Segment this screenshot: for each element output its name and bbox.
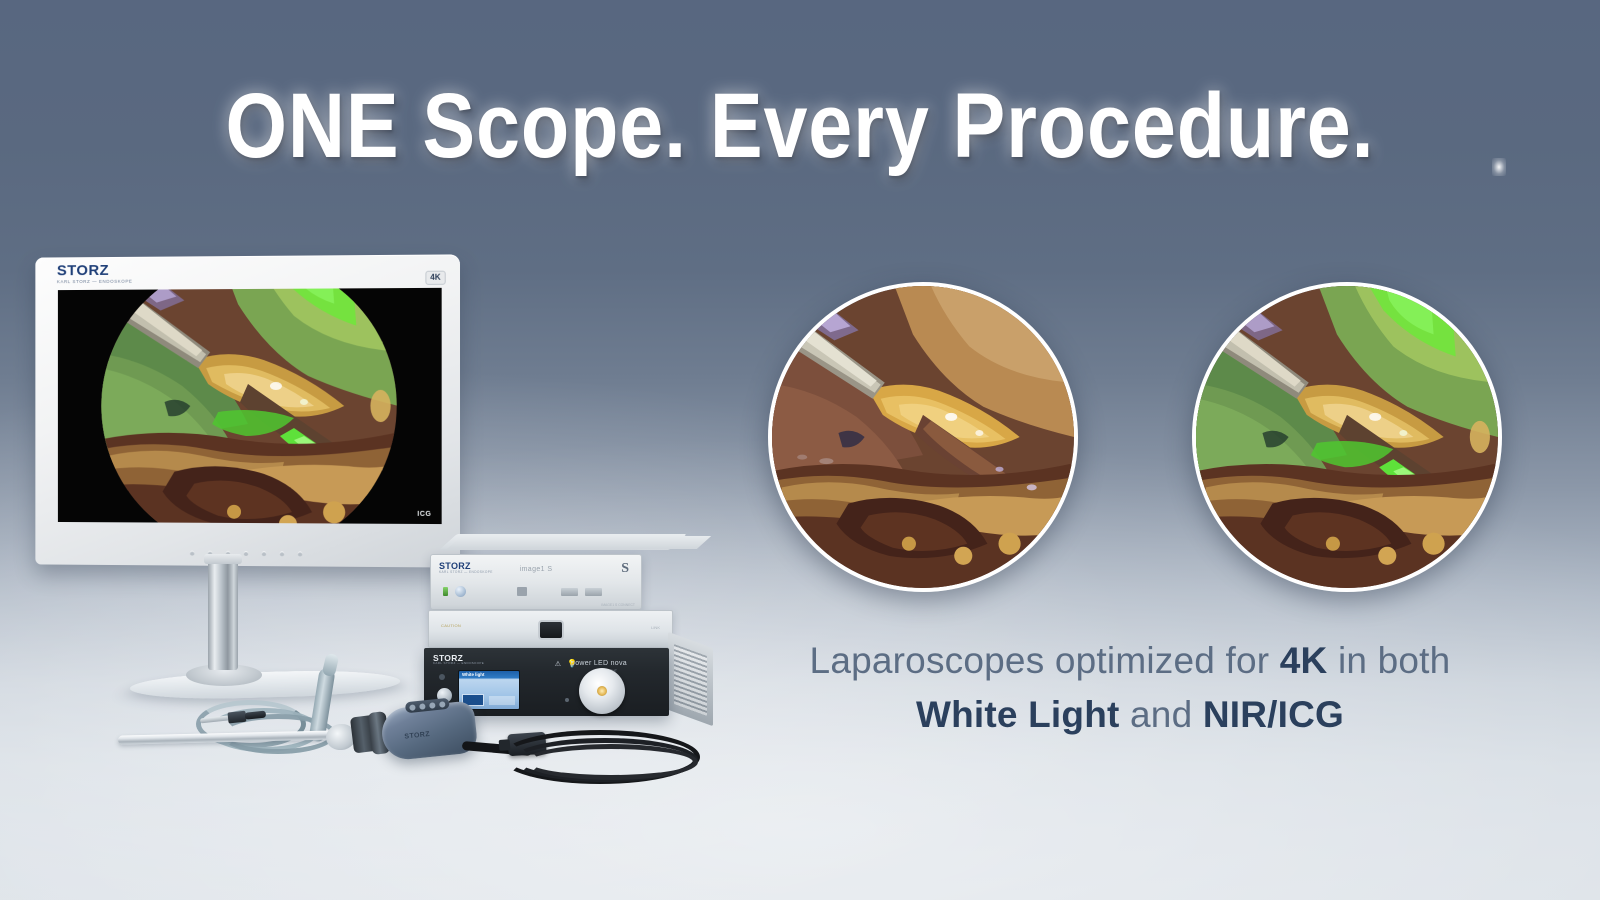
camera-head-button-4[interactable] bbox=[439, 701, 446, 708]
lcd-panel-right bbox=[489, 696, 515, 705]
camera-unit-front-panel bbox=[439, 583, 633, 601]
power-led-indicator bbox=[443, 587, 448, 596]
mid-module-unit: CAUTION LINK bbox=[428, 610, 673, 648]
nir-icg-scene bbox=[1196, 286, 1498, 588]
storz-logo-subtext-camera-unit: KARL STORZ — ENDOSKOPE bbox=[439, 570, 493, 574]
icg-mode-tag: ICG bbox=[417, 511, 431, 518]
monitor: STORZ KARL STORZ — ENDOSKOPE 4K ICG bbox=[33, 256, 458, 566]
monitor-stand-neck bbox=[208, 560, 238, 670]
light-guide-tip bbox=[322, 653, 340, 677]
headline-glow-artifact bbox=[1492, 158, 1506, 176]
laparoscopic-scope-view bbox=[58, 288, 442, 524]
inset-white-light-image bbox=[768, 282, 1078, 592]
camera-cable-loop-3 bbox=[524, 744, 698, 780]
resolution-badge-4k: 4K bbox=[425, 271, 446, 285]
light-source-indicator-dot bbox=[565, 698, 569, 702]
camera-unit-port[interactable] bbox=[517, 587, 527, 596]
storz-logo-monitor: STORZ bbox=[57, 263, 109, 278]
mid-unit-warning-label: CAUTION bbox=[441, 623, 461, 628]
lcd-mode-title: White light bbox=[462, 672, 484, 677]
adapter-connector bbox=[245, 711, 267, 720]
storz-logo-subtext-monitor: KARL STORZ — ENDOSKOPE bbox=[57, 279, 133, 284]
camera-head-button-2[interactable] bbox=[419, 703, 426, 710]
light-source-output-port[interactable] bbox=[579, 668, 625, 714]
adapter-shaft bbox=[200, 715, 230, 723]
camera-head-button-1[interactable] bbox=[409, 704, 416, 711]
adapter-body bbox=[227, 711, 246, 724]
storz-logo-camera-head: STORZ bbox=[404, 731, 430, 741]
mid-unit-right-label: LINK bbox=[651, 625, 660, 630]
monitor-button-4[interactable] bbox=[243, 551, 248, 556]
mid-unit-slot[interactable] bbox=[538, 620, 564, 640]
monitor-button-1[interactable] bbox=[189, 551, 194, 556]
camera-unit-footer-label: IMAGE1 S CONNECT bbox=[601, 603, 635, 607]
light-source-small-button[interactable] bbox=[439, 674, 445, 680]
camera-unit-dial[interactable] bbox=[455, 586, 466, 597]
monitor-button-6[interactable] bbox=[279, 551, 284, 556]
monitor-bezel: STORZ KARL STORZ — ENDOSKOPE 4K ICG bbox=[35, 254, 460, 567]
warning-icon: ⚠ bbox=[555, 660, 561, 668]
caption-4k-emphasis: 4K bbox=[1280, 640, 1328, 681]
camera-cable-coil bbox=[470, 726, 715, 788]
caption-white-light-emphasis: White Light bbox=[916, 694, 1120, 735]
monitor-button-5[interactable] bbox=[261, 551, 266, 556]
light-source-model-label: power LED nova bbox=[571, 660, 627, 667]
monitor-top-bezel: STORZ KARL STORZ — ENDOSKOPE 4K bbox=[35, 254, 460, 289]
caption-line1-suffix: in both bbox=[1327, 640, 1450, 681]
usb-port-1[interactable] bbox=[561, 588, 578, 596]
inset-nir-icg-image bbox=[1192, 282, 1502, 592]
caption-line1-prefix: Laparoscopes optimized for bbox=[810, 640, 1280, 681]
caption: Laparoscopes optimized for 4K in both Wh… bbox=[700, 634, 1560, 742]
camera-unit-series-badge: S bbox=[621, 561, 629, 577]
usb-port-2[interactable] bbox=[585, 588, 602, 596]
caption-nir-icg-emphasis: NIR/ICG bbox=[1203, 694, 1344, 735]
camera-control-unit: STORZ KARL STORZ — ENDOSKOPE image1 S S … bbox=[430, 554, 642, 610]
headline: ONE Scope. Every Procedure. bbox=[112, 78, 1488, 175]
slide-canvas: ONE Scope. Every Procedure. bbox=[0, 0, 1600, 900]
monitor-screen: ICG bbox=[58, 288, 442, 524]
camera-head-buttons[interactable] bbox=[405, 698, 450, 714]
mid-unit-top-surface bbox=[447, 536, 711, 549]
monitor-power-button[interactable] bbox=[297, 551, 302, 556]
storz-logo-subtext-light-source: KARL STORZ — ENDOSKOPE bbox=[433, 661, 484, 665]
caption-line2-mid: and bbox=[1120, 694, 1203, 735]
camera-unit-model-label: image1 S bbox=[520, 566, 553, 573]
white-light-scene bbox=[772, 286, 1074, 588]
camera-head-button-3[interactable] bbox=[429, 702, 436, 709]
